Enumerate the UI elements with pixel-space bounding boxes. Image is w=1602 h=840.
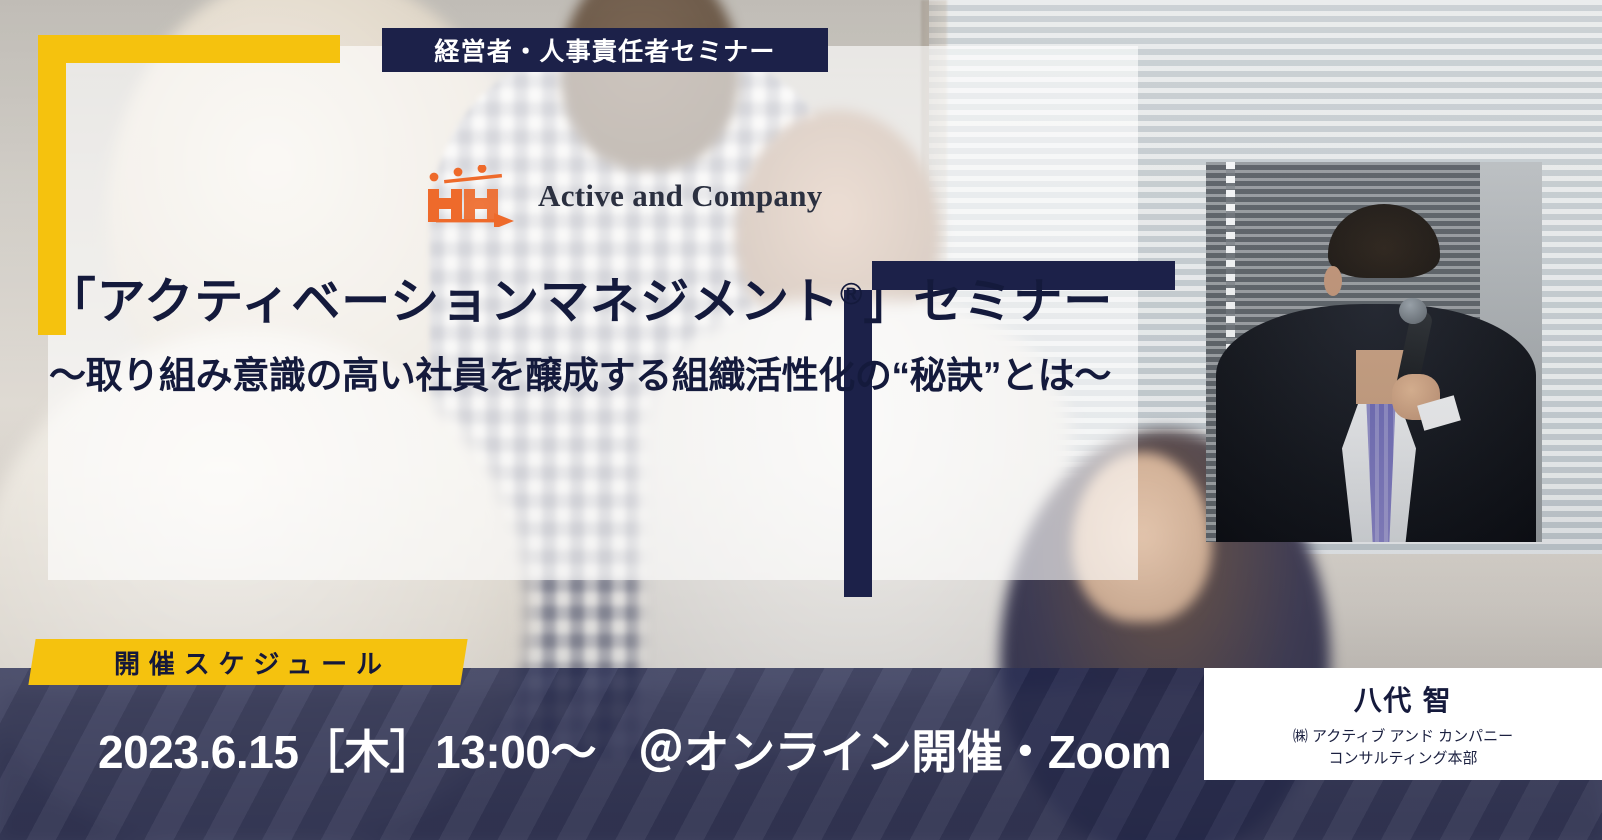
schedule-tag: 開催スケジュール xyxy=(28,639,467,685)
schedule-tag-label: 開催スケジュール xyxy=(32,639,464,685)
speaker-affiliation-line2: コンサルティング本部 xyxy=(1293,748,1513,769)
bracket-vertical-bar xyxy=(844,290,872,597)
audience-badge-label: 経営者・人事責任者セミナー xyxy=(434,32,775,68)
speaker-name-card: 八代 智 ㈱ アクティブ アンド カンパニー コンサルティング本部 xyxy=(1204,668,1602,780)
speaker-name: 八代 智 xyxy=(1354,679,1453,719)
page-subtitle: 〜取り組み意識の高い社員を醸成する組織活性化の“秘訣”とは〜 xyxy=(0,345,1160,399)
audience-badge: 経営者・人事責任者セミナー xyxy=(382,28,828,72)
schedule-venue: ＠オンライン開催・Zoom xyxy=(638,716,1171,782)
title-main-suffix: 」セミナー xyxy=(863,275,1113,329)
active-and-company-bar-chart-logo-icon xyxy=(424,165,520,227)
speaker-photo xyxy=(1206,162,1542,542)
schedule-date: 2023.6.15［木］13:00〜 xyxy=(98,716,596,782)
seminar-banner: 経営者・人事責任者セミナー Active and Company 「アクティベー… xyxy=(0,0,1602,840)
registered-trademark-icon: ® xyxy=(840,277,863,311)
schedule-details: 2023.6.15［木］13:00〜 ＠オンライン開催・Zoom xyxy=(98,716,1171,782)
title-main-prefix: 「アクティベーションマネジメント xyxy=(47,275,840,329)
speaker-affiliation: ㈱ アクティブ アンド カンパニー コンサルティング本部 xyxy=(1293,726,1513,769)
page-title: 「アクティベーションマネジメント®」セミナー xyxy=(0,262,1160,333)
bracket-horizontal-bar xyxy=(38,35,340,63)
company-logo-text: Active and Company xyxy=(538,178,823,214)
speaker-affiliation-line1: ㈱ アクティブ アンド カンパニー xyxy=(1293,726,1513,747)
photo-overlay xyxy=(1206,162,1542,542)
company-logo: Active and Company xyxy=(424,165,823,227)
